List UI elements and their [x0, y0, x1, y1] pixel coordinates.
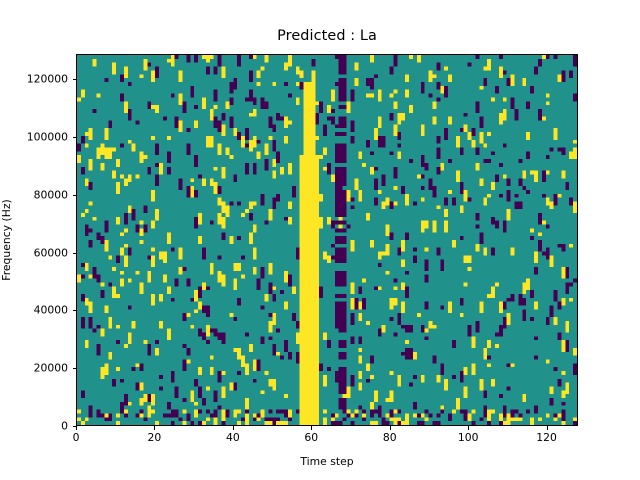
x-tick-mark	[233, 426, 234, 430]
y-tick-mark	[73, 253, 77, 254]
y-tick-label: 100000	[27, 130, 68, 143]
x-tick-label: 20	[148, 431, 162, 444]
y-tick-mark	[73, 195, 77, 196]
x-tick-mark	[468, 426, 469, 430]
y-tick-mark	[73, 79, 77, 80]
x-tick-label: 100	[458, 431, 479, 444]
heatmap-canvas	[77, 55, 577, 425]
x-tick-mark	[311, 426, 312, 430]
y-tick-label: 80000	[34, 188, 68, 201]
matplotlib-figure: Predicted : La 0200004000060000800001000…	[0, 0, 640, 480]
y-axis-label: Frequency (Hz)	[0, 54, 14, 426]
x-axis-label: Time step	[76, 455, 578, 468]
x-tick-label: 0	[73, 431, 80, 444]
y-tick-label: 40000	[34, 304, 68, 317]
x-tick-label: 80	[383, 431, 397, 444]
x-tick-mark	[154, 426, 155, 430]
y-tick-mark	[73, 137, 77, 138]
x-tick-label: 40	[226, 431, 240, 444]
heatmap-axes	[76, 54, 578, 426]
x-tick-label: 120	[536, 431, 557, 444]
heatmap-image	[77, 55, 577, 425]
page-title: Predicted : La	[76, 28, 578, 44]
x-tick-mark	[76, 426, 77, 430]
y-tick-mark	[73, 310, 77, 311]
y-tick-label: 120000	[27, 73, 68, 86]
x-tick-mark	[547, 426, 548, 430]
y-tick-mark	[73, 368, 77, 369]
y-tick-label: 60000	[34, 246, 68, 259]
y-tick-label: 20000	[34, 362, 68, 375]
y-tick-label: 0	[61, 420, 68, 433]
x-tick-label: 60	[304, 431, 318, 444]
x-tick-mark	[390, 426, 391, 430]
